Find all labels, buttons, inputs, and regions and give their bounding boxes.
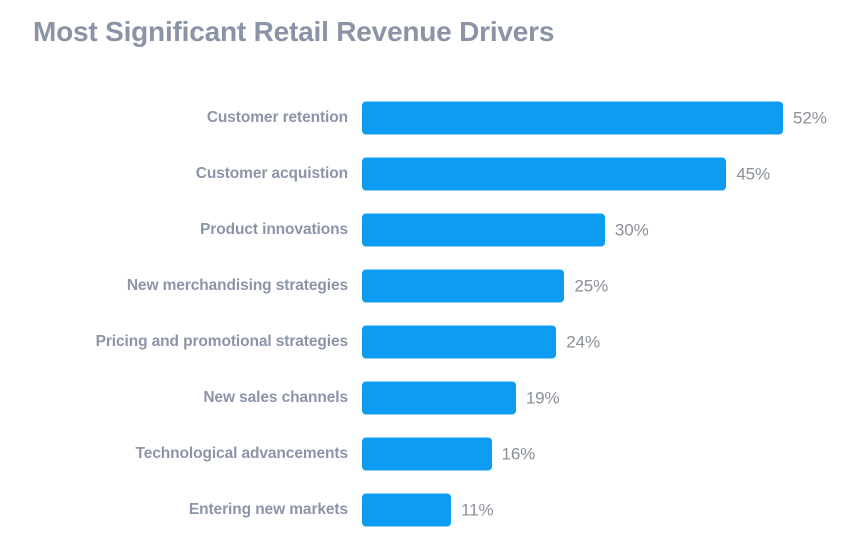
bar-category-label: Customer retention — [0, 109, 348, 127]
bar-row: Pricing and promotional strategies24% — [0, 314, 847, 370]
bar-row: Customer retention52% — [0, 90, 847, 146]
bar-track: 45% — [362, 158, 847, 191]
bar-value-label: 19% — [526, 388, 560, 408]
bar-chart: Most Significant Retail Revenue Drivers … — [0, 0, 847, 557]
bar-category-label: Customer acquistion — [0, 165, 348, 183]
bar-row: Product innovations30% — [0, 202, 847, 258]
bar-category-label: Product innovations — [0, 221, 348, 239]
bar-row: Entering new markets11% — [0, 482, 847, 538]
bar-track: 25% — [362, 270, 847, 303]
bar-category-label: New sales channels — [0, 389, 348, 407]
bar-category-label: Technological advancements — [0, 445, 348, 463]
bar-fill[interactable] — [362, 158, 726, 191]
bar-fill[interactable] — [362, 494, 451, 527]
bar-track: 30% — [362, 214, 847, 247]
bar-fill[interactable] — [362, 102, 783, 135]
bar-category-label: Entering new markets — [0, 501, 348, 519]
bar-value-label: 45% — [736, 164, 770, 184]
bar-fill[interactable] — [362, 326, 556, 359]
bar-track: 11% — [362, 494, 847, 527]
bar-fill[interactable] — [362, 438, 492, 471]
bar-row: New sales channels19% — [0, 370, 847, 426]
bar-fill[interactable] — [362, 214, 605, 247]
bar-fill[interactable] — [362, 270, 564, 303]
chart-plot-area: Customer retention52%Customer acquistion… — [0, 90, 847, 538]
bar-category-label: Pricing and promotional strategies — [0, 333, 348, 351]
chart-title: Most Significant Retail Revenue Drivers — [33, 16, 554, 48]
bar-value-label: 30% — [615, 220, 649, 240]
bar-track: 19% — [362, 382, 847, 415]
bar-value-label: 11% — [461, 500, 493, 520]
bar-category-label: New merchandising strategies — [0, 277, 348, 295]
bar-value-label: 52% — [793, 108, 827, 128]
bar-track: 52% — [362, 102, 847, 135]
bar-fill[interactable] — [362, 382, 516, 415]
bar-row: New merchandising strategies25% — [0, 258, 847, 314]
bar-track: 24% — [362, 326, 847, 359]
bar-track: 16% — [362, 438, 847, 471]
bar-value-label: 16% — [502, 444, 536, 464]
bar-row: Customer acquistion45% — [0, 146, 847, 202]
bar-value-label: 25% — [574, 276, 608, 296]
bar-row: Technological advancements16% — [0, 426, 847, 482]
bar-value-label: 24% — [566, 332, 600, 352]
